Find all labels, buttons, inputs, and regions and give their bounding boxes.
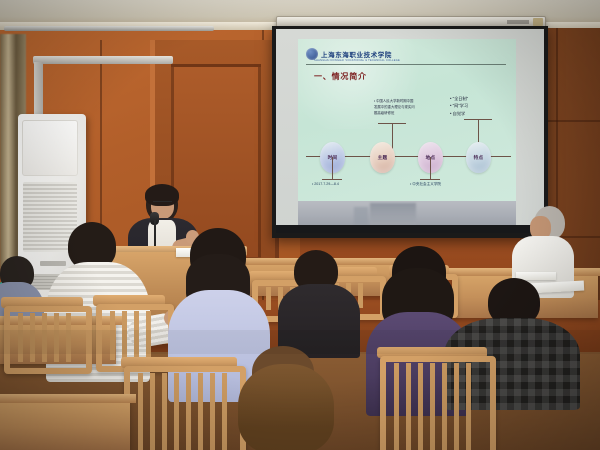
ac-duct-vertical <box>34 62 43 118</box>
curtain-rod <box>4 26 214 31</box>
slide-left-text: • 中国人民大学新时期中国 发展中的重大理论与现实问 题高级研修班 <box>374 99 415 116</box>
roller-end-cap <box>533 18 543 26</box>
faint-building-image <box>370 203 416 225</box>
slide-node-theme: 主题 <box>370 142 395 173</box>
eyeglasses <box>153 201 172 207</box>
projection-screen: 上海东海职业技术学院 SHANGHAI DONGHAI VOCATIONAL &… <box>272 26 548 238</box>
screen-bottom-bar <box>276 225 544 233</box>
connector-stem <box>332 157 333 179</box>
roller-brand-logo <box>507 20 529 24</box>
connector-cap <box>420 179 440 180</box>
conference-room-photo: 上海东海职业技术学院 SHANGHAI DONGHAI VOCATIONAL &… <box>0 0 600 450</box>
ac-duct-horizontal <box>33 56 173 64</box>
slide-title: 一、情况简介 <box>314 71 367 82</box>
college-name-en: SHANGHAI DONGHAI VOCATIONAL & TECHNICAL … <box>314 59 400 62</box>
slide-left-line: • 中国人民大学新时期中国 <box>374 99 415 105</box>
faint-building-image <box>354 207 368 225</box>
slide-right-line: • "全日制" <box>450 95 468 102</box>
chair-slats <box>131 373 227 450</box>
chair <box>380 356 484 450</box>
connector-stem <box>430 157 431 179</box>
slide-right-line: • "网"学习 <box>450 102 468 109</box>
connector-cap <box>322 179 342 180</box>
college-name-cn: 上海东海职业技术学院 <box>321 49 392 59</box>
slide-left-line: 题高级研修班 <box>374 111 415 117</box>
slide-left-line: 发展中的重大理论与现实问 <box>374 105 415 111</box>
ac-upper-panel <box>22 120 78 176</box>
screen-surface: 上海东海职业技术学院 SHANGHAI DONGHAI VOCATIONAL &… <box>276 29 544 233</box>
table-edge <box>0 394 136 403</box>
shadow-band <box>0 330 600 354</box>
slide-footer-date: • 2017.7.29—8.4 <box>312 182 339 186</box>
chair <box>124 366 234 450</box>
presentation-slide: 上海东海职业技术学院 SHANGHAI DONGHAI VOCATIONAL &… <box>298 39 516 201</box>
slide-footer-venue: • 中央社会主义学院 <box>410 182 441 187</box>
attendee-brown-hair <box>236 346 340 450</box>
attendee-hair <box>238 364 334 450</box>
slide-right-line: • 自觉学 <box>450 110 468 117</box>
slide-header-rule <box>306 64 506 65</box>
front-table <box>0 400 130 450</box>
slide-right-text: • "全日制" • "网"学习 • 自觉学 <box>450 95 468 117</box>
slide-node-feature: 特点 <box>466 142 491 173</box>
projector-overscan-area <box>298 201 516 227</box>
chair-slats <box>387 363 477 450</box>
